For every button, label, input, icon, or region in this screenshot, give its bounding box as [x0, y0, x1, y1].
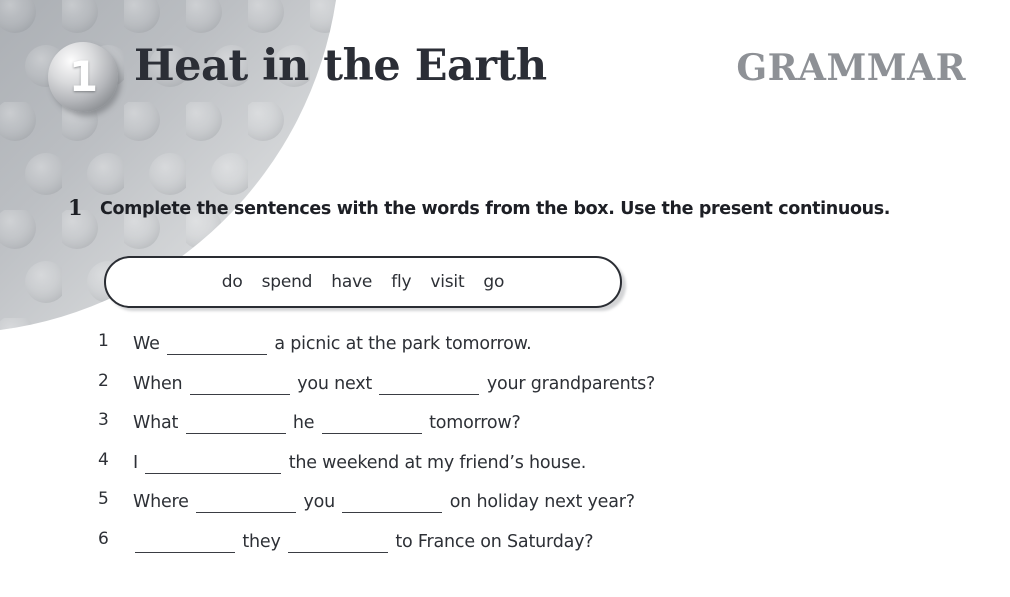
word-option: spend	[262, 272, 313, 292]
sentence-text: When you next your grandparents?	[133, 368, 655, 397]
unit-badge-number: 1	[48, 42, 118, 112]
section-label: GRAMMAR	[736, 50, 966, 86]
sentence-row: 4I the weekend at my friend’s house.	[0, 447, 1010, 487]
sentence-list: 1We a picnic at the park tomorrow.2When …	[0, 328, 1010, 565]
page-header: 1 Heat in the Earth GRAMMAR	[0, 0, 1010, 150]
answer-blank[interactable]	[135, 526, 235, 553]
word-option: do	[222, 272, 243, 292]
sentence-fragment: I	[133, 453, 143, 473]
page-title: Heat in the Earth	[134, 44, 547, 89]
sentence-fragment: your grandparents?	[481, 374, 655, 394]
answer-blank[interactable]	[322, 407, 422, 434]
sentence-text: they to France on Saturday?	[133, 526, 593, 555]
sentence-row: 1We a picnic at the park tomorrow.	[0, 328, 1010, 368]
sentence-fragment: to France on Saturday?	[390, 532, 593, 552]
sentence-fragment: When	[133, 374, 188, 394]
sentence-fragment: What	[133, 413, 184, 433]
word-option: go	[483, 272, 504, 292]
sentence-text: What he tomorrow?	[133, 407, 521, 436]
sentence-text: I the weekend at my friend’s house.	[133, 447, 586, 476]
sentence-fragment: the weekend at my friend’s house.	[283, 453, 586, 473]
word-box: dospendhaveflyvisitgo	[104, 256, 622, 308]
unit-number-badge: 1	[48, 42, 122, 116]
exercise-header: 1 Complete the sentences with the words …	[0, 196, 1010, 230]
sentence-number: 5	[98, 486, 116, 512]
sentence-row: 5Where you on holiday next year?	[0, 486, 1010, 526]
sentence-fragment: a picnic at the park tomorrow.	[269, 334, 532, 354]
worksheet-page: 1 Heat in the Earth GRAMMAR 1 Complete t…	[0, 0, 1010, 597]
sentence-fragment: you	[298, 492, 340, 512]
word-option: fly	[391, 272, 411, 292]
word-list: dospendhaveflyvisitgo	[222, 272, 504, 292]
exercise-number: 1	[68, 196, 83, 220]
word-box-outline: dospendhaveflyvisitgo	[104, 256, 622, 308]
sentence-text: We a picnic at the park tomorrow.	[133, 328, 532, 357]
answer-blank[interactable]	[186, 407, 286, 434]
sentence-fragment: they	[237, 532, 286, 552]
sentence-fragment: We	[133, 334, 165, 354]
sentence-row: 2When you next your grandparents?	[0, 368, 1010, 408]
sentence-number: 6	[98, 526, 116, 552]
answer-blank[interactable]	[145, 447, 281, 474]
exercise-instruction: Complete the sentences with the words fr…	[100, 197, 890, 221]
sentence-fragment: Where	[133, 492, 194, 512]
word-option: have	[331, 272, 372, 292]
exercise-block: 1 Complete the sentences with the words …	[0, 196, 1010, 230]
answer-blank[interactable]	[190, 368, 290, 395]
answer-blank[interactable]	[196, 486, 296, 513]
answer-blank[interactable]	[288, 526, 388, 553]
word-option: visit	[430, 272, 464, 292]
sentence-number: 2	[98, 368, 116, 394]
sentence-fragment: he	[288, 413, 320, 433]
sentence-fragment: you next	[292, 374, 378, 394]
sentence-fragment: tomorrow?	[424, 413, 521, 433]
sentence-number: 4	[98, 447, 116, 473]
sentence-row: 6 they to France on Saturday?	[0, 526, 1010, 566]
answer-blank[interactable]	[167, 328, 267, 355]
answer-blank[interactable]	[379, 368, 479, 395]
sentence-row: 3What he tomorrow?	[0, 407, 1010, 447]
sentence-fragment: on holiday next year?	[444, 492, 634, 512]
answer-blank[interactable]	[342, 486, 442, 513]
sentence-text: Where you on holiday next year?	[133, 486, 635, 515]
sentence-number: 1	[98, 328, 116, 354]
sentence-number: 3	[98, 407, 116, 433]
